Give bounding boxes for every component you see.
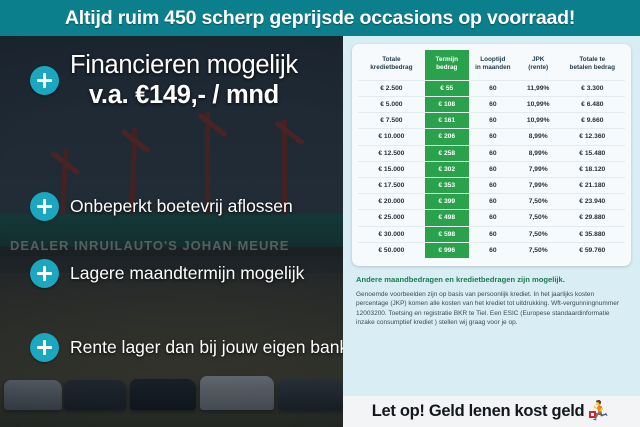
table-header-cell-4: Totale tebetalen bedrag: [560, 50, 625, 80]
table-cell: € 55: [425, 80, 469, 96]
table-body: € 2.500€ 556011,99%€ 3.300€ 5.000€ 10860…: [358, 80, 625, 258]
table-cell: € 50.000: [358, 242, 425, 258]
table-cell: € 23.940: [560, 194, 625, 210]
plus-icon: [30, 259, 59, 288]
table-cell: € 996: [425, 242, 469, 258]
table-cell: € 10.000: [358, 129, 425, 145]
table-cell: € 353: [425, 177, 469, 193]
table-cell: € 598: [425, 226, 469, 242]
table-cell: € 258: [425, 145, 469, 161]
table-cell: € 17.500: [358, 177, 425, 193]
finance-panel: TotalekredietbedragTermijnbedragLooptijd…: [343, 36, 640, 427]
table-cell: € 12.500: [358, 145, 425, 161]
promo-bullet-2-label: Lagere maandtermijn mogelijk: [70, 263, 304, 284]
headline-block: Financieren mogelijk v.a. €149,- / mnd: [30, 50, 298, 111]
table-cell: € 30.000: [358, 226, 425, 242]
table-cell: 10,99%: [517, 97, 560, 113]
warning-bar: Let op! Geld lenen kost geld 🏃: [343, 396, 640, 427]
top-banner-text: Altijd ruim 450 scherp geprijsde occasio…: [65, 7, 575, 30]
table-cell: € 59.760: [560, 242, 625, 258]
table-row: € 15.000€ 302607,99%€ 18.120: [358, 161, 625, 177]
table-cell: 60: [469, 129, 517, 145]
plus-icon: [30, 192, 59, 221]
top-banner: Altijd ruim 450 scherp geprijsde occasio…: [0, 0, 640, 36]
table-cell: € 12.360: [560, 129, 625, 145]
promo-bullet-1-label: Onbeperkt boetevrij aflossen: [70, 196, 293, 217]
table-cell: € 2.500: [358, 80, 425, 96]
table-row: € 5.000€ 1086010,99%€ 6.480: [358, 97, 625, 113]
table-cell: € 25.000: [358, 210, 425, 226]
table-cell: 60: [469, 113, 517, 129]
table-row: € 20.000€ 399607,50%€ 23.940: [358, 194, 625, 210]
table-cell: 7,50%: [517, 194, 560, 210]
table-row: € 10.000€ 206608,99%€ 12.360: [358, 129, 625, 145]
table-cell: € 206: [425, 129, 469, 145]
table-cell: € 18.120: [560, 161, 625, 177]
table-cell: € 5.000: [358, 97, 425, 113]
money-walking-away-icon: 🏃: [589, 402, 611, 422]
table-cell: € 35.880: [560, 226, 625, 242]
table-cell: 7,50%: [517, 226, 560, 242]
table-cell: € 29.880: [560, 210, 625, 226]
promo-column: Financieren mogelijk v.a. €149,- / mnd O…: [0, 36, 348, 427]
table-header-line: kredietbedrag: [359, 64, 424, 72]
table-header-line: JPK: [518, 56, 559, 64]
table-header-row: TotalekredietbedragTermijnbedragLooptijd…: [358, 50, 625, 80]
table-cell: € 3.300: [560, 80, 625, 96]
headline-line-1: Financieren mogelijk: [70, 50, 298, 80]
table-cell: € 6.480: [560, 97, 625, 113]
table-cell: € 161: [425, 113, 469, 129]
table-row: € 25.000€ 498607,50%€ 29.880: [358, 210, 625, 226]
table-header-line: Totale te: [561, 56, 624, 64]
table-cell: € 21.180: [560, 177, 625, 193]
table-row: € 17.500€ 353607,99%€ 21.180: [358, 177, 625, 193]
table-cell: € 498: [425, 210, 469, 226]
table-cell: € 302: [425, 161, 469, 177]
plus-icon: [30, 333, 59, 362]
table-header-line: Looptijd: [470, 56, 516, 64]
table-cell: 60: [469, 161, 517, 177]
table-cell: € 108: [425, 97, 469, 113]
table-header-line: Totale: [359, 56, 424, 64]
table-header-cell-0: Totalekredietbedrag: [358, 50, 425, 80]
table-cell: 7,50%: [517, 242, 560, 258]
table-cell: 60: [469, 97, 517, 113]
table-cell: € 9.660: [560, 113, 625, 129]
table-cell: 10,99%: [517, 113, 560, 129]
finance-table: TotalekredietbedragTermijnbedragLooptijd…: [358, 50, 625, 258]
table-cell: 60: [469, 145, 517, 161]
table-cell: € 15.000: [358, 161, 425, 177]
table-header-line: Termijn: [426, 56, 468, 64]
finance-table-card: TotalekredietbedragTermijnbedragLooptijd…: [352, 44, 631, 266]
table-header-line: bedrag: [426, 64, 468, 72]
table-cell: 60: [469, 80, 517, 96]
table-cell: € 20.000: [358, 194, 425, 210]
table-cell: 60: [469, 177, 517, 193]
plus-icon: [30, 66, 59, 95]
table-cell: 60: [469, 194, 517, 210]
table-row: € 2.500€ 556011,99%€ 3.300: [358, 80, 625, 96]
table-cell: € 399: [425, 194, 469, 210]
table-cell: 11,99%: [517, 80, 560, 96]
table-cell: € 7.500: [358, 113, 425, 129]
table-row: € 30.000€ 598607,50%€ 35.880: [358, 226, 625, 242]
table-header-line: betalen bedrag: [561, 64, 624, 72]
table-cell: 60: [469, 242, 517, 258]
table-cell: 7,99%: [517, 177, 560, 193]
table-header-cell-1: Termijnbedrag: [425, 50, 469, 80]
warning-text: Let op! Geld lenen kost geld: [372, 402, 585, 421]
table-cell: 8,99%: [517, 145, 560, 161]
table-header-line: in maanden: [470, 64, 516, 72]
disclaimer-title: Andere maandbedragen en kredietbedragen …: [356, 275, 627, 285]
disclaimer-body: Genoemde voorbeelden zijn op basis van p…: [356, 290, 627, 328]
promo-bullet-3: Rente lager dan bij jouw eigen bank: [30, 333, 348, 362]
promo-bullet-1: Onbeperkt boetevrij aflossen: [30, 192, 293, 221]
table-cell: 7,99%: [517, 161, 560, 177]
promo-bullet-3-label: Rente lager dan bij jouw eigen bank: [70, 337, 348, 358]
headline-line-2: v.a. €149,- / mnd: [70, 80, 298, 111]
table-cell: € 15.480: [560, 145, 625, 161]
table-cell: 60: [469, 210, 517, 226]
table-row: € 7.500€ 1616010,99%€ 9.660: [358, 113, 625, 129]
disclaimer-block: Andere maandbedragen en kredietbedragen …: [352, 266, 631, 328]
promo-bullet-2: Lagere maandtermijn mogelijk: [30, 259, 304, 288]
table-header-cell-2: Looptijdin maanden: [469, 50, 517, 80]
table-header-line: (rente): [518, 64, 559, 72]
table-row: € 12.500€ 258608,99%€ 15.480: [358, 145, 625, 161]
table-row: € 50.000€ 996607,50%€ 59.760: [358, 242, 625, 258]
table-cell: 60: [469, 226, 517, 242]
table-cell: 7,50%: [517, 210, 560, 226]
table-cell: 8,99%: [517, 129, 560, 145]
table-header-cell-3: JPK(rente): [517, 50, 560, 80]
